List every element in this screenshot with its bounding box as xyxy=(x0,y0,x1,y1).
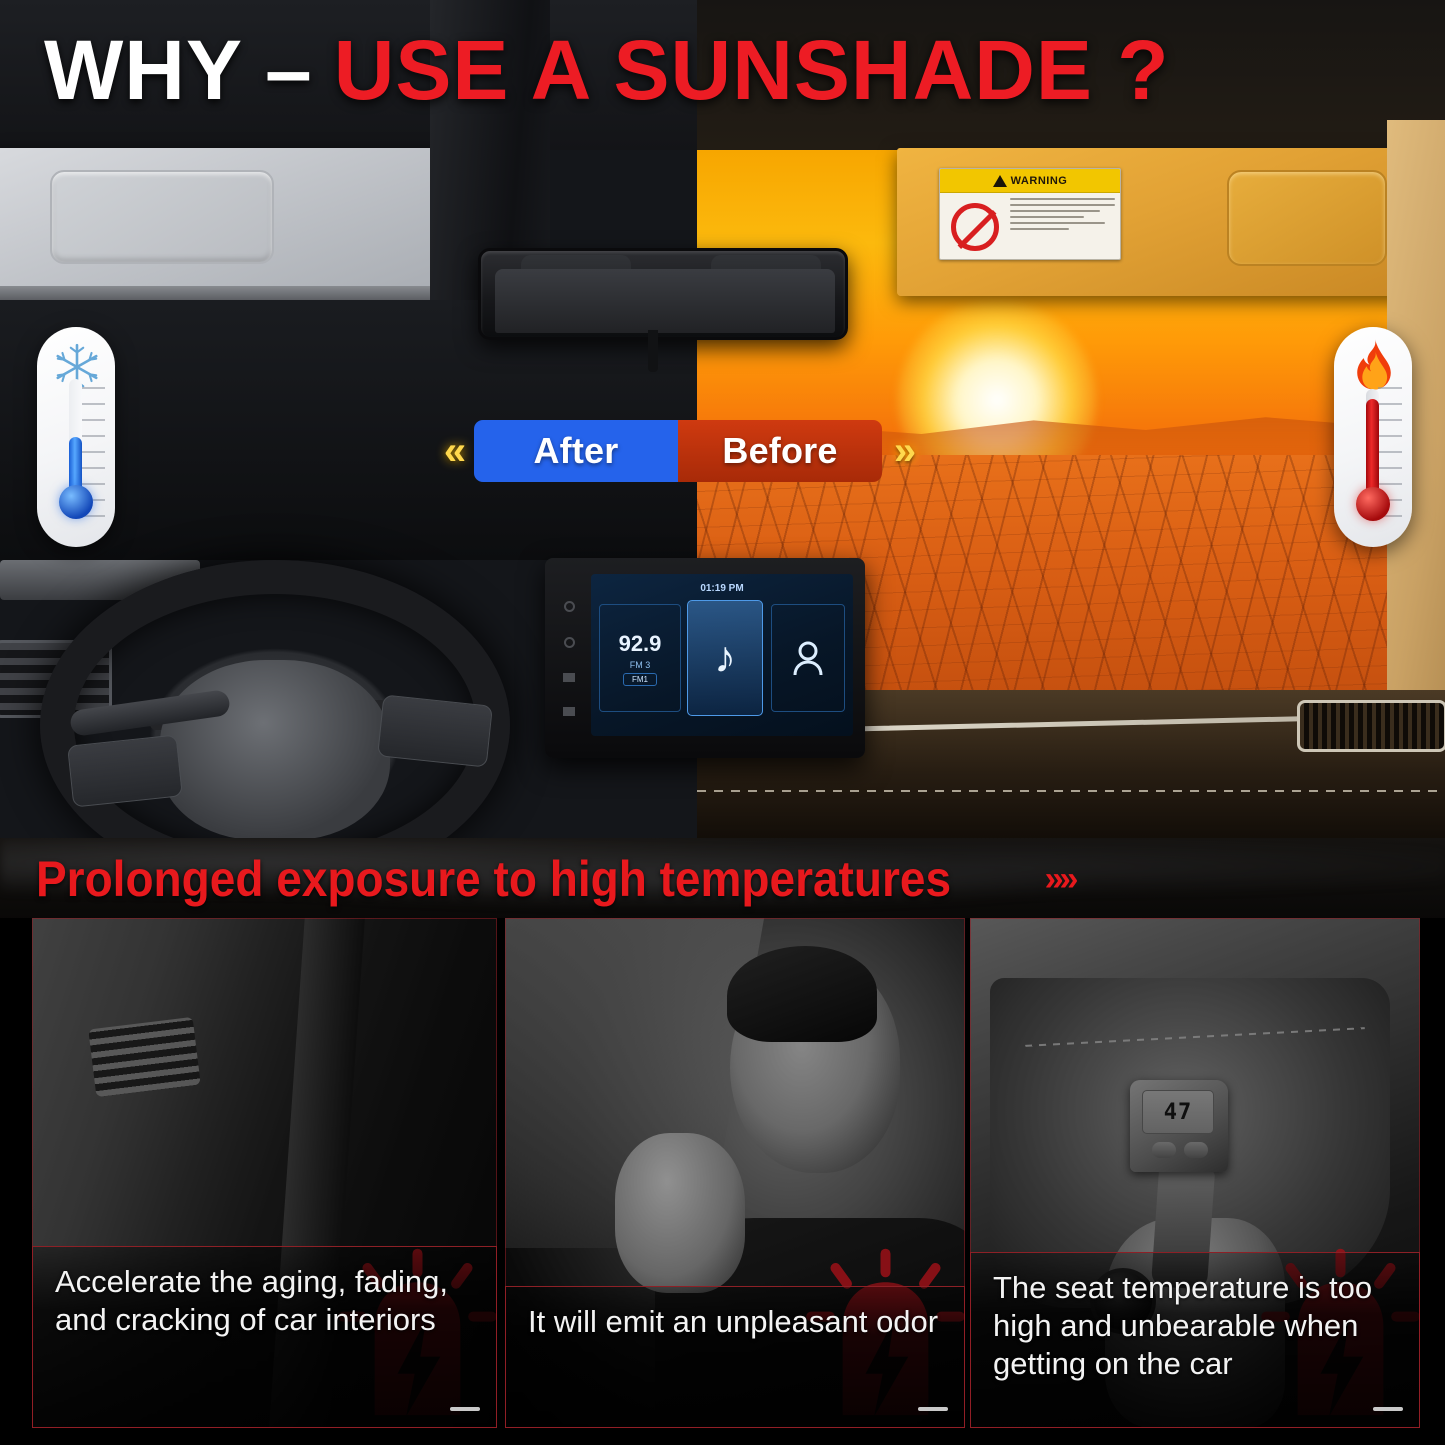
rearview-mirror-stem xyxy=(648,330,658,372)
title-red-part: USE A SUNSHADE ? xyxy=(334,22,1170,119)
ir-gun-display: 47 xyxy=(1142,1090,1214,1134)
chevrons-right-icon: »» xyxy=(1045,860,1075,899)
infotainment-statusbar: 01:19 PM xyxy=(599,580,845,596)
rearview-mirror xyxy=(478,248,848,340)
chevron-right-icon: » xyxy=(882,431,924,471)
panel-odor: It will emit an unpleasant odor xyxy=(505,918,965,1428)
ir-gun-reading: 47 xyxy=(1164,1100,1193,1125)
infotainment-screen[interactable]: 01:19 PM 92.9 FM 3 FM1 ♪ xyxy=(591,574,853,736)
warning-label-body xyxy=(940,193,1120,260)
airbag-warning-label: WARNING xyxy=(939,168,1121,260)
infographic-page: WARNING xyxy=(0,0,1445,1445)
panel2-person-hair xyxy=(727,946,877,1042)
power-knob-icon[interactable] xyxy=(564,601,575,612)
visor-vanity-mirror xyxy=(1227,170,1387,266)
warning-label-header: WARNING xyxy=(940,169,1120,193)
flame-icon xyxy=(1352,337,1396,391)
warning-label-text: WARNING xyxy=(1011,175,1068,187)
media-tile[interactable]: ♪ xyxy=(687,600,763,716)
section-heading-bar: Prolonged exposure to high temperatures … xyxy=(0,838,1445,920)
infotainment-head-unit: 01:19 PM 92.9 FM 3 FM1 ♪ xyxy=(545,558,865,758)
menu-icon[interactable] xyxy=(563,707,575,716)
steering-controls-left[interactable] xyxy=(67,734,183,807)
volume-knob-icon[interactable] xyxy=(564,637,575,648)
panel-seat-temperature: 47 T xyxy=(970,918,1420,1428)
air-vent-right xyxy=(1297,700,1445,752)
infrared-thermometer-gun: 47 xyxy=(1130,1080,1228,1172)
radio-tile[interactable]: 92.9 FM 3 FM1 xyxy=(599,604,681,712)
warning-label-textlines xyxy=(1010,193,1120,260)
thermometer-hot xyxy=(1334,327,1412,547)
radio-preset[interactable]: FM1 xyxy=(623,673,657,686)
panel2-caption: It will emit an unpleasant odor xyxy=(505,1286,965,1428)
thermometer-bulb-hot xyxy=(1356,487,1390,521)
steering-controls-right[interactable] xyxy=(377,694,493,767)
person-icon xyxy=(791,640,825,676)
consequence-panels: Accelerate the aging, fading, and cracki… xyxy=(0,918,1445,1445)
panel3-caption: The seat temperature is too high and unb… xyxy=(970,1252,1420,1428)
before-label: Before xyxy=(678,420,882,482)
ir-gun-button-left[interactable] xyxy=(1152,1142,1176,1158)
title-dash: – xyxy=(265,22,312,119)
title-word-why: WHY xyxy=(44,22,243,119)
before-after-badge: « After Before » xyxy=(432,418,932,484)
panel1-caption: Accelerate the aging, fading, and cracki… xyxy=(32,1246,497,1428)
thermometer-cold xyxy=(37,327,115,547)
panel-interior-aging: Accelerate the aging, fading, and cracki… xyxy=(32,918,497,1428)
caption-dash-mark xyxy=(918,1407,948,1411)
prohibition-circle xyxy=(951,203,999,251)
thermometer-bulb-cold xyxy=(59,485,93,519)
rear-seatback xyxy=(495,269,835,333)
panel1-air-vent xyxy=(88,1017,201,1097)
page-title: WHY – USE A SUNSHADE ? xyxy=(0,0,1445,140)
sun-visor-left xyxy=(0,148,460,286)
section-heading: Prolonged exposure to high temperatures … xyxy=(36,838,1074,920)
caption-dash-mark xyxy=(1373,1407,1403,1411)
warning-triangle-icon xyxy=(993,175,1007,187)
mute-icon[interactable] xyxy=(563,673,575,682)
caption-dash-mark xyxy=(450,1407,480,1411)
music-note-icon: ♪ xyxy=(714,636,736,680)
section-heading-text: Prolonged exposure to high temperatures xyxy=(36,850,951,908)
no-child-seat-icon xyxy=(940,193,1010,260)
dash-stitching xyxy=(697,790,1445,792)
infotainment-clock: 01:19 PM xyxy=(700,583,743,594)
profile-tile[interactable] xyxy=(771,604,845,712)
chevron-left-icon: « xyxy=(432,431,474,471)
radio-band: FM 3 xyxy=(630,660,651,670)
steering-wheel-airbag-hub xyxy=(160,660,390,840)
thermometer-fill-hot xyxy=(1366,399,1379,499)
radio-frequency: 92.9 xyxy=(619,631,662,657)
ir-gun-button-right[interactable] xyxy=(1184,1142,1208,1158)
hero-before-after-image: WARNING xyxy=(0,0,1445,840)
infotainment-side-buttons[interactable] xyxy=(559,588,579,728)
panel2-person-hand xyxy=(615,1133,745,1293)
sun-visor-right: WARNING xyxy=(897,148,1417,296)
after-label: After xyxy=(474,420,678,482)
